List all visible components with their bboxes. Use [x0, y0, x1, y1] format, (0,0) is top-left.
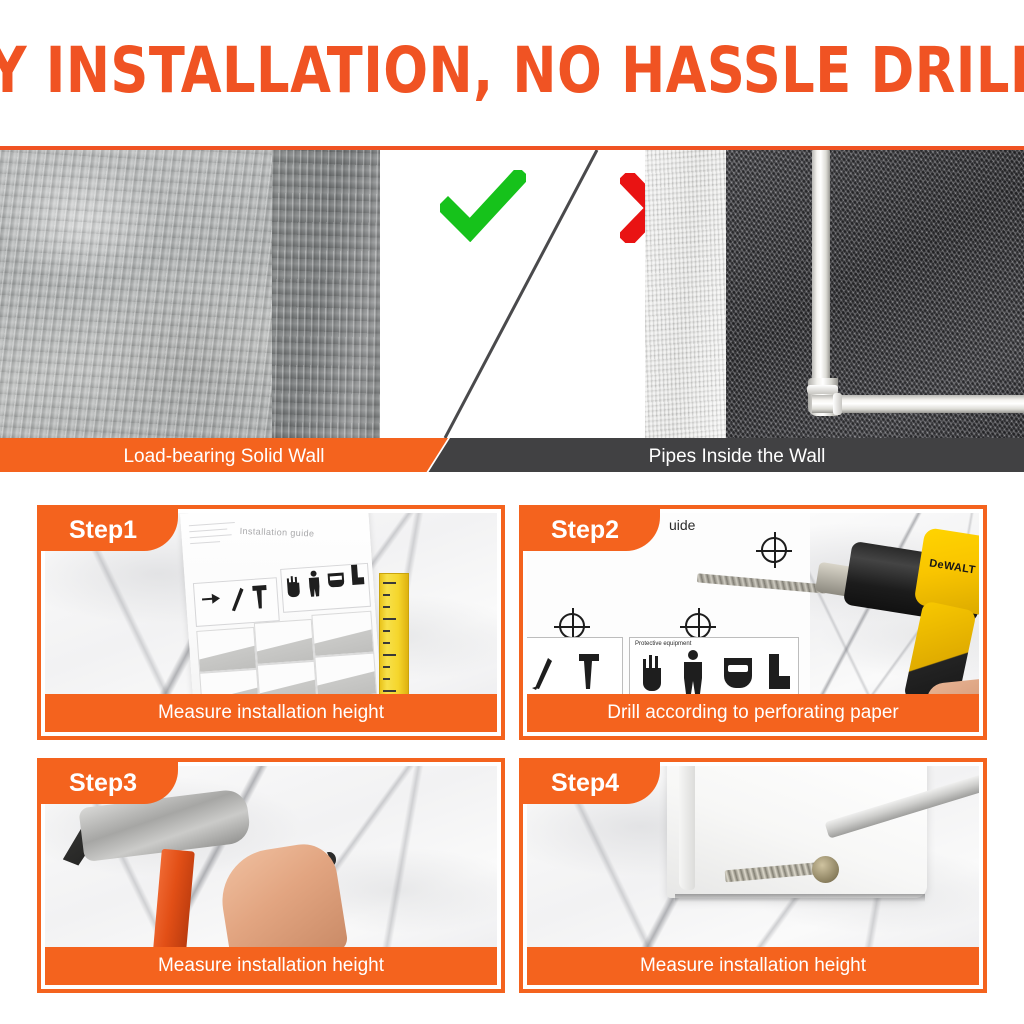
guide-text-fragment: uide — [669, 517, 695, 533]
crosshair-mark-drill-target — [685, 613, 711, 639]
solid-wall-texture-light — [0, 150, 272, 438]
pipe-collar-side — [833, 393, 842, 415]
step-4-caption: Measure installation height — [527, 947, 979, 985]
headline-section: EASY INSTALLATION, NO HASSLE DRILLING — [0, 0, 1024, 140]
red-cross-icon — [620, 173, 645, 243]
step-card-1: Installation guide — [37, 505, 505, 740]
installation-guide-sheet: Installation guide — [180, 513, 382, 702]
yellow-ruler — [379, 573, 409, 702]
pipe-horizontal — [812, 395, 1024, 413]
page-title: EASY INSTALLATION, NO HASSLE DRILLING — [0, 39, 1024, 102]
step-4-badge: Step4 — [523, 762, 660, 804]
crosshair-mark-left — [559, 613, 585, 639]
ppe-icons-box: Protective equipment — [629, 637, 799, 701]
installation-steps-grid: Installation guide — [37, 505, 987, 995]
glove-icon — [640, 652, 666, 694]
banner-caption-left-label: Load-bearing Solid Wall — [0, 438, 448, 472]
fixture-wall-shadow — [675, 894, 925, 902]
installation-guide-title: Installation guide — [240, 526, 350, 540]
banner-caption-right-label: Pipes Inside the Wall — [450, 438, 1024, 472]
boot-icon — [348, 563, 365, 586]
pipe-vertical — [812, 150, 830, 387]
hammer-icon — [574, 650, 604, 690]
step-1-caption: Measure installation height — [45, 694, 497, 732]
stucco-wall-light-texture — [645, 150, 726, 438]
chisel-icon — [530, 652, 556, 690]
coverall-icon — [680, 650, 706, 694]
drill-icon — [199, 587, 225, 613]
step-3-badge: Step3 — [41, 762, 178, 804]
coverall-icon — [306, 570, 322, 597]
comparison-center-panel — [380, 150, 645, 438]
goggles-icon — [326, 568, 345, 587]
screwdriver-icon — [227, 583, 247, 612]
wall-comparison-banner: Load-bearing Solid Wall Pipes Inside the… — [0, 146, 1024, 472]
step-2-badge: Step2 — [523, 509, 660, 551]
screw-head — [812, 856, 839, 883]
step-card-3: Step3 Measure installation height — [37, 758, 505, 993]
step-card-4: Step4 Measure installation height — [519, 758, 987, 993]
step-card-2: uide Protective equipment — [519, 505, 987, 740]
tool-icons-box — [527, 637, 623, 701]
white-fixture-bracket — [667, 766, 927, 898]
ppe-label: Protective equipment — [635, 641, 691, 647]
step-3-caption: Measure installation height — [45, 947, 497, 985]
face-shield-icon — [722, 654, 754, 690]
solid-wall-texture-dark — [272, 150, 380, 438]
boot-icon — [764, 652, 792, 692]
step-1-badge: Step1 — [41, 509, 178, 551]
crosshair-mark-top — [761, 537, 787, 563]
fixture-arm — [679, 766, 695, 890]
banner-photo-strip — [0, 150, 1024, 438]
step-2-caption: Drill according to perforating paper — [527, 694, 979, 732]
banner-caption-bar: Load-bearing Solid Wall Pipes Inside the… — [0, 438, 1024, 472]
glove-icon — [285, 574, 303, 599]
hammer-icon — [249, 582, 271, 611]
green-check-icon — [440, 170, 526, 242]
